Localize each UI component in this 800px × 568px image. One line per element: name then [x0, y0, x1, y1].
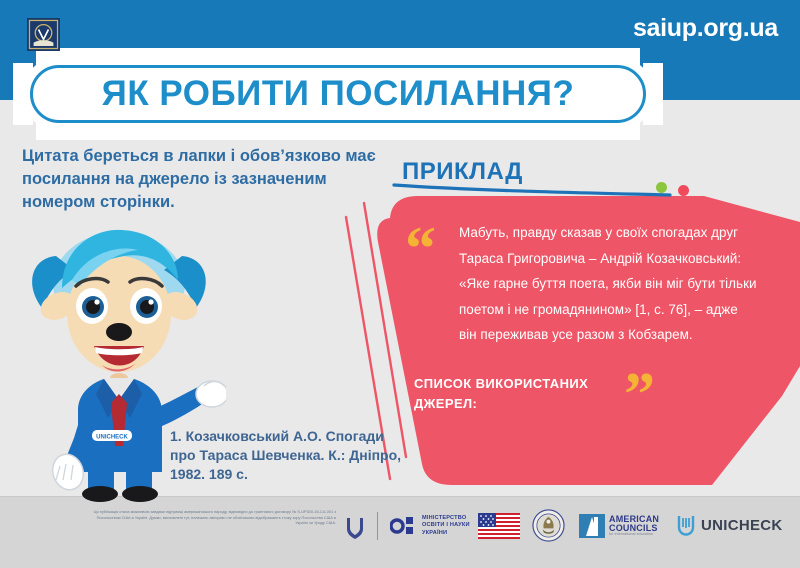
- usaid-logo: [27, 18, 60, 51]
- quote-open-icon: “: [405, 218, 436, 280]
- ministry-line-2: ОСВІТИ І НАУКИ: [422, 522, 470, 529]
- quote-text: Мабуть, правду сказав у своїх спогадах д…: [459, 220, 757, 348]
- ministry-of-education-logo: МІНІСТЕРСТВО ОСВІТИ І НАУКИ УКРАЇНИ: [390, 509, 470, 543]
- bibliography-entry: 1. Козачковський А.О. Спогади про Тараса…: [170, 427, 410, 484]
- american-councils-mark-icon: [578, 512, 606, 540]
- quote-card-content: “ Мабуть, правду сказав у своїх спогадах…: [402, 196, 800, 486]
- svg-text:UNICHECK: UNICHECK: [96, 435, 128, 441]
- unicheck-mark-icon: [676, 514, 696, 536]
- title-inner-frame: ЯК РОБИТИ ПОСИЛАННЯ?: [30, 65, 646, 123]
- ministry-line-3: УКРАЇНИ: [422, 530, 470, 537]
- ministry-line-1: МІНІСТЕРСТВО: [422, 515, 470, 522]
- american-councils-logo: AMERICAN COUNCILS for international educ…: [578, 510, 659, 542]
- unicheck-name: UNICHECK: [701, 517, 783, 534]
- quote-close-icon: ”: [624, 364, 655, 426]
- us-embassy-seal-icon: [532, 509, 565, 542]
- title-banner: ЯК РОБИТИ ПОСИЛАННЯ?: [22, 57, 654, 131]
- ukraine-trident-icon: [342, 512, 368, 542]
- example-label: ПРИКЛАД: [402, 158, 523, 186]
- american-councils-line-3: for international education: [609, 533, 659, 537]
- mon-mark-icon: [390, 513, 416, 539]
- unicheck-logo: UNICHECK: [676, 514, 783, 536]
- page-title: ЯК РОБИТИ ПОСИЛАННЯ?: [102, 74, 575, 114]
- ministry-name: МІНІСТЕРСТВО ОСВІТИ І НАУКИ УКРАЇНИ: [422, 515, 470, 537]
- sources-label: СПИСОК ВИКОРИСТАНИХ ДЖЕРЕЛ:: [414, 374, 634, 414]
- footer-disclaimer: Ця публікація стала можливою завдяки під…: [88, 509, 336, 526]
- decor-dot-red: [678, 185, 689, 196]
- site-url: saiup.org.ua: [633, 14, 778, 43]
- logo-divider: [377, 512, 378, 540]
- us-flag-icon: [478, 513, 520, 539]
- infographic-page: saiup.org.ua ЯК РОБИТИ ПОСИЛАННЯ? Цитата…: [0, 0, 800, 568]
- cloud-edge-right: [643, 63, 663, 125]
